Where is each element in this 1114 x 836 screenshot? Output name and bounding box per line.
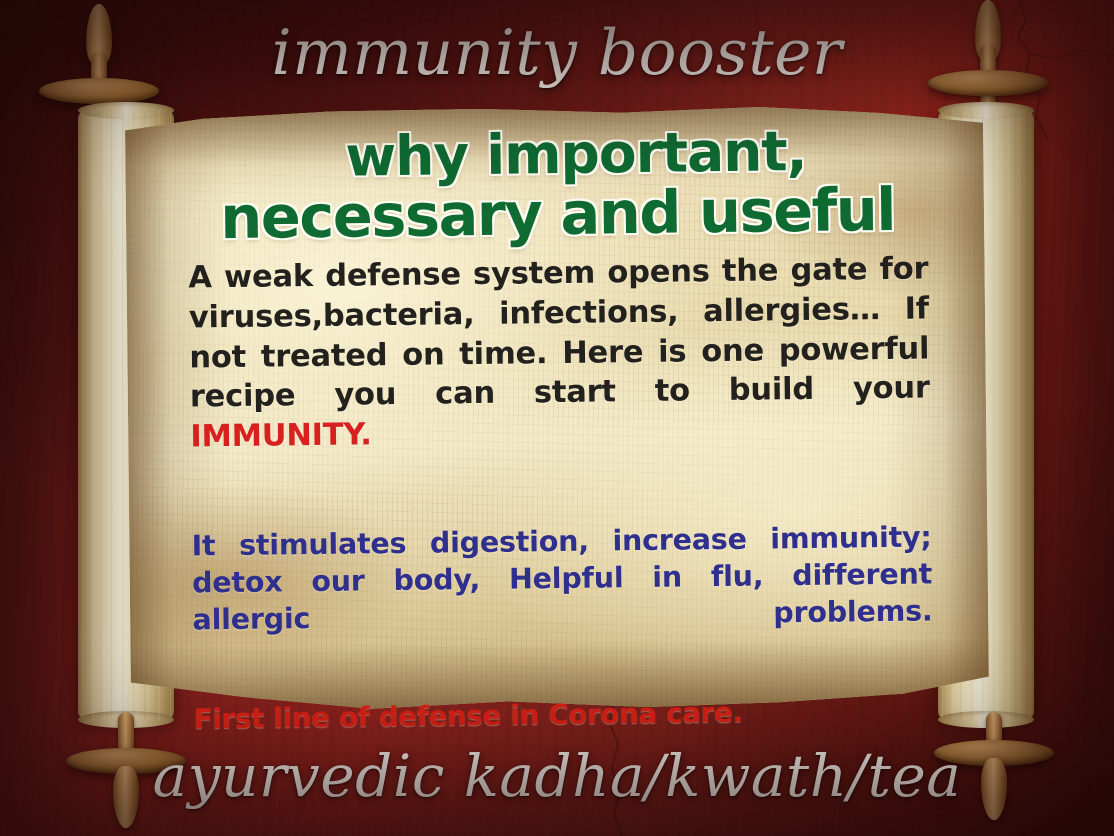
body-paragraph-secondary: It stimulates digestion, increase immuni… [191, 518, 933, 675]
wall-crack-left-mid [0, 170, 90, 410]
poster-canvas: immunity booster ayurvedic kadha/kwath/t… [0, 0, 1114, 836]
scroll-roll-left-top-cap [78, 102, 174, 119]
immunity-highlight: IMMUNITY. [190, 417, 372, 454]
heading-line-2: necessary and useful [187, 182, 928, 247]
body-paragraph-primary: A weak defense system opens the gate for… [188, 250, 931, 497]
poster-title-bottom: ayurvedic kadha/kwath/tea [0, 742, 1114, 810]
body-paragraph-primary-text: A weak defense system opens the gate for… [188, 252, 930, 415]
scroll-roll-right-top-cap [938, 102, 1034, 119]
poster-title-top: immunity booster [0, 16, 1114, 89]
scroll-content: why important, necessary and useful A we… [187, 124, 934, 693]
